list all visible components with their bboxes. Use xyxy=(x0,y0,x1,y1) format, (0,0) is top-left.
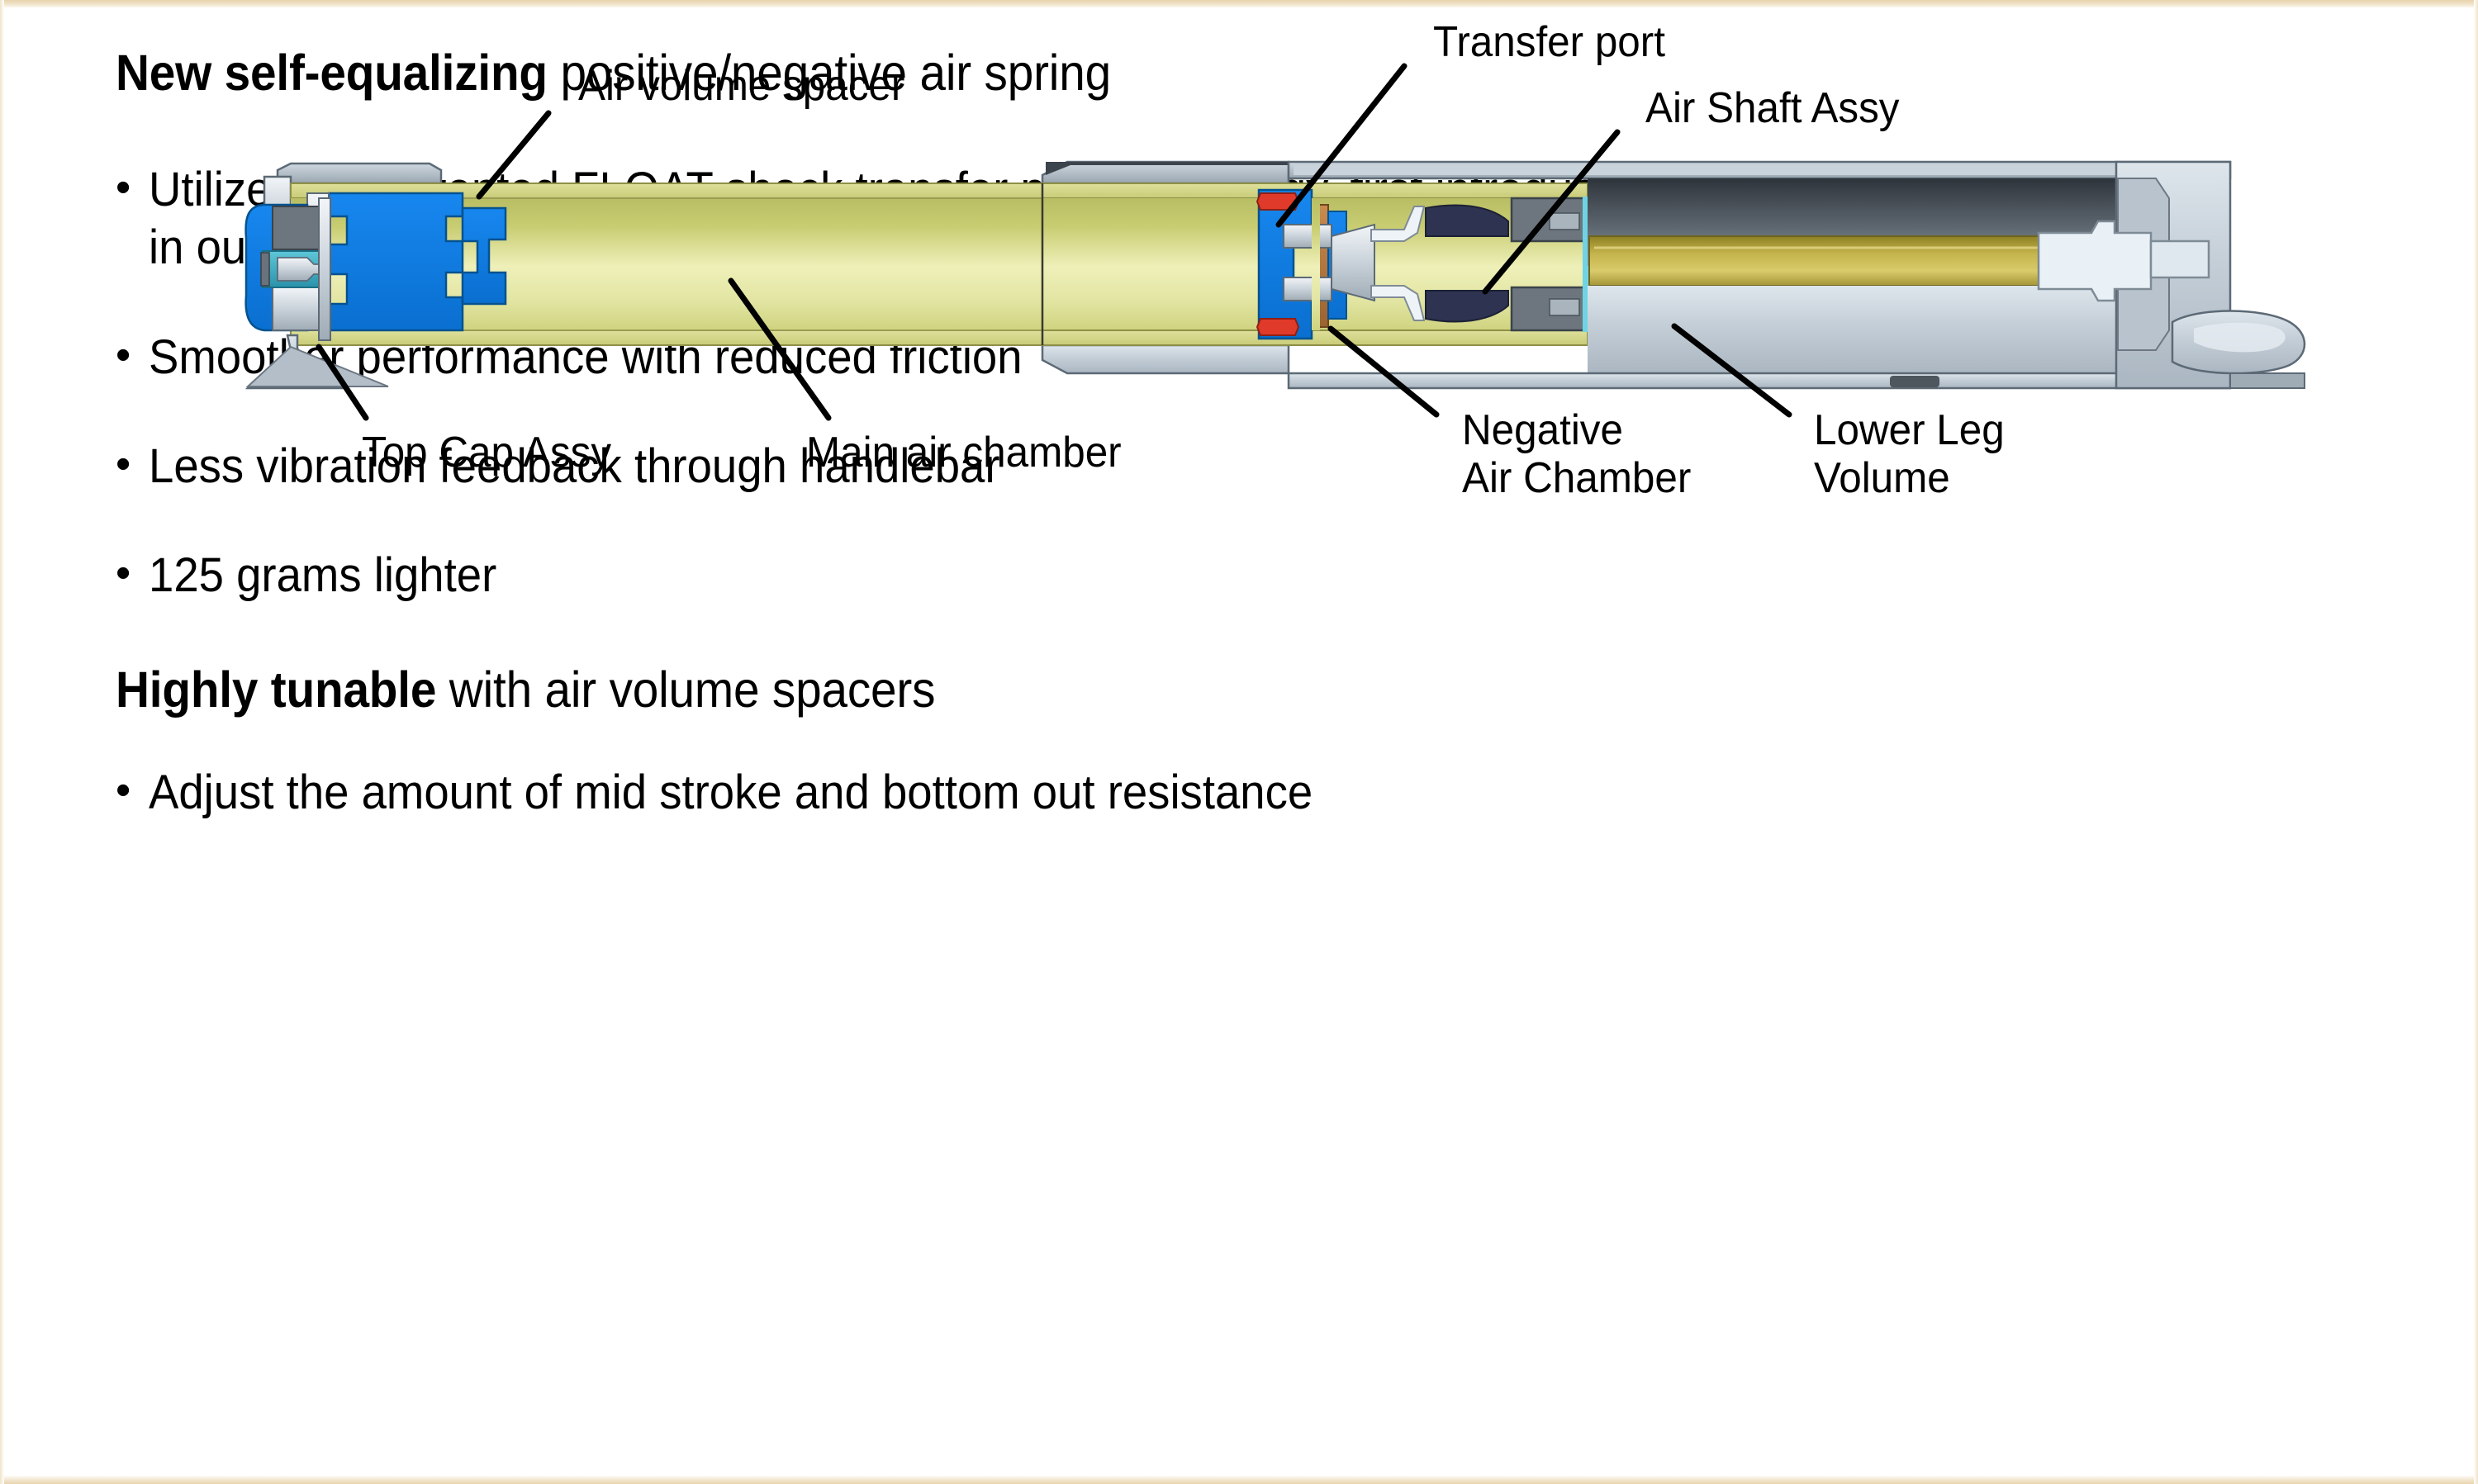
callout-transfer-port: Transfer port xyxy=(1433,18,1665,66)
bullet-glyph: • xyxy=(116,764,149,817)
callout-air-shaft-assy: Air Shaft Assy xyxy=(1645,84,1900,132)
leader-main-air-chamber xyxy=(731,281,828,418)
heading-2-rest: with air volume spacers xyxy=(436,661,935,718)
leader-negative-air-chamber xyxy=(1331,329,1436,415)
leader-top-cap-assy xyxy=(319,347,366,418)
callout-air-volume-spacer: Air volume spacer xyxy=(578,62,904,110)
air-spring-cutaway-figure: Air volume spacer Transfer port Air Shaf… xyxy=(0,0,2478,609)
callout-top-cap-assy: Top Cap Assy xyxy=(362,429,611,476)
leader-air-shaft-assy xyxy=(1485,132,1617,292)
callout-lower-leg-volume: Lower Leg Volume xyxy=(1814,406,2005,502)
callout-main-air-chamber: Main air chamber xyxy=(806,429,1122,476)
leader-transfer-port xyxy=(1279,66,1404,225)
bullet-item-adjust: • Adjust the amount of mid stroke and bo… xyxy=(116,764,2395,822)
slide-bottom-border xyxy=(0,1476,2478,1484)
leader-air-volume-spacer xyxy=(479,113,548,197)
heading-2: Highly tunable with air volume spacers xyxy=(116,662,935,717)
leader-lower-leg-volume xyxy=(1674,326,1789,415)
callout-leader-lines xyxy=(0,0,2478,609)
bullet-text: Adjust the amount of mid stroke and bott… xyxy=(149,764,1313,822)
callout-negative-air-chamber: Negative Air Chamber xyxy=(1462,406,1691,502)
heading-2-bold: Highly tunable xyxy=(116,661,436,718)
